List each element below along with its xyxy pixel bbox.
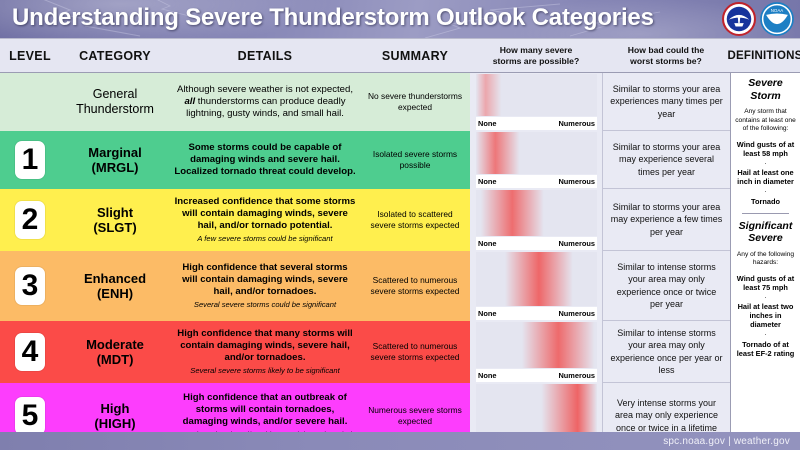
col-header-level: LEVEL bbox=[0, 39, 60, 72]
how-bad-cell: Similar to intense storms your area may … bbox=[602, 321, 730, 383]
agency-logos: NOAA bbox=[722, 2, 794, 36]
level-cell: 2 bbox=[0, 189, 60, 251]
category-line2: (MRGL) bbox=[88, 160, 141, 175]
definitions-panel: SevereStormAny storm that contains at le… bbox=[730, 73, 800, 432]
category-line1: Moderate bbox=[86, 337, 144, 352]
nws-logo-icon bbox=[722, 2, 756, 36]
col-header-how-many-line2: storms are possible? bbox=[493, 56, 579, 66]
scale-label-high: Numerous bbox=[558, 309, 595, 318]
footer-bar: spc.noaa.gov | weather.gov bbox=[0, 432, 800, 450]
definition-title: SevereStorm bbox=[734, 77, 797, 102]
level-cell: 1 bbox=[0, 131, 60, 189]
how-bad-cell: Similar to storms your area may experien… bbox=[602, 189, 730, 251]
definition-lead: Any storm that contains at least one of … bbox=[734, 108, 797, 134]
definition-separator-dot: . bbox=[734, 188, 797, 194]
how-many-gradient-cell: NoneNumerous bbox=[470, 321, 602, 383]
table-body: GeneralThunderstormAlthough severe weath… bbox=[0, 73, 800, 449]
definition-item: Hail at least two inches in diameter bbox=[734, 302, 797, 329]
details-text: Increased confidence that some storms wi… bbox=[174, 196, 356, 231]
table-row: 1Marginal(MRGL)Some storms could be capa… bbox=[0, 131, 800, 189]
col-header-category: CATEGORY bbox=[60, 39, 170, 72]
details-cell: High confidence that many storms will co… bbox=[170, 321, 360, 383]
outlook-table: LEVEL CATEGORY DETAILS SUMMARY How many … bbox=[0, 38, 800, 432]
summary-cell: Isolated severe storms possible bbox=[360, 131, 470, 189]
definition-item: Tornado bbox=[734, 197, 797, 206]
category-line1: High bbox=[94, 401, 135, 416]
col-header-how-many: How many severe storms are possible? bbox=[470, 39, 602, 72]
table-row: 2Slight(SLGT)Increased confidence that s… bbox=[0, 189, 800, 251]
category-line1: Marginal bbox=[88, 145, 141, 160]
category-cell: Slight(SLGT) bbox=[60, 189, 170, 251]
gradient-scale-labels: NoneNumerous bbox=[476, 307, 597, 320]
definition-title: SignificantSevere bbox=[734, 220, 797, 245]
definition-title-line1: Severe bbox=[734, 77, 797, 90]
definition-separator-dot: . bbox=[734, 331, 797, 337]
level-badge: 4 bbox=[15, 333, 45, 371]
summary-cell: Scattered to numerous severe storms expe… bbox=[360, 321, 470, 383]
severe-storm-likelihood-gradient bbox=[476, 384, 597, 434]
details-emphasis: all bbox=[184, 96, 195, 107]
definition-separator-dot: . bbox=[734, 294, 797, 300]
definition-item: Tornado of at least EF-2 rating bbox=[734, 340, 797, 358]
col-header-how-bad: How bad could the worst storms be? bbox=[602, 39, 730, 72]
definition-item: Wind gusts of at least 75 mph bbox=[734, 274, 797, 292]
details-text: High confidence that an outbreak of stor… bbox=[174, 392, 356, 427]
scale-label-high: Numerous bbox=[558, 239, 595, 248]
details-note: Several severe storms likely to be signi… bbox=[190, 367, 339, 375]
col-header-summary: SUMMARY bbox=[360, 39, 470, 72]
scale-label-high: Numerous bbox=[558, 119, 595, 128]
category-line2: (MDT) bbox=[86, 352, 144, 367]
how-many-gradient-cell: NoneNumerous bbox=[470, 251, 602, 321]
summary-cell: No severe thunderstorms expected bbox=[360, 73, 470, 131]
definition-item: Wind gusts of at least 58 mph bbox=[734, 140, 797, 158]
definition-separator-dot: . bbox=[734, 160, 797, 166]
table-row: 4Moderate(MDT)High confidence that many … bbox=[0, 321, 800, 383]
category-cell: Marginal(MRGL) bbox=[60, 131, 170, 189]
level-badge: 5 bbox=[15, 397, 45, 435]
details-text: High confidence that many storms will co… bbox=[174, 328, 356, 363]
noaa-logo-icon: NOAA bbox=[760, 2, 794, 36]
summary-cell: Scattered to numerous severe storms expe… bbox=[360, 251, 470, 321]
scale-label-low: None bbox=[478, 119, 496, 128]
col-header-definitions: DEFINITIONS bbox=[730, 39, 800, 72]
table-header-row: LEVEL CATEGORY DETAILS SUMMARY How many … bbox=[0, 39, 800, 73]
scale-label-high: Numerous bbox=[558, 177, 595, 186]
details-cell: Increased confidence that some storms wi… bbox=[170, 189, 360, 251]
page-title: Understanding Severe Thunderstorm Outloo… bbox=[12, 4, 654, 32]
details-note: Several severe storms could be significa… bbox=[194, 301, 336, 309]
definition-block: SevereStormAny storm that contains at le… bbox=[734, 77, 797, 206]
summary-cell: Isolated to scattered severe storms expe… bbox=[360, 189, 470, 251]
level-cell: 4 bbox=[0, 321, 60, 383]
details-note: A few severe storms could be significant bbox=[197, 235, 332, 243]
gradient-scale-labels: NoneNumerous bbox=[476, 117, 597, 130]
level-cell bbox=[0, 73, 60, 131]
definitions-divider bbox=[742, 213, 789, 214]
how-many-gradient-cell: NoneNumerous bbox=[470, 73, 602, 131]
col-header-details: DETAILS bbox=[170, 39, 360, 72]
definition-lead: Any of the following hazards: bbox=[734, 251, 797, 268]
severe-storm-likelihood-gradient bbox=[476, 190, 597, 236]
col-header-how-bad-line2: worst storms be? bbox=[628, 56, 704, 66]
details-text: Some storms could be capable of damaging… bbox=[174, 142, 356, 177]
gradient-scale-labels: NoneNumerous bbox=[476, 369, 597, 382]
category-line2: Thunderstorm bbox=[76, 102, 154, 117]
definition-title-line2: Storm bbox=[734, 90, 797, 103]
category-line2: (HIGH) bbox=[94, 416, 135, 431]
severe-storm-likelihood-gradient bbox=[476, 252, 597, 306]
gradient-scale-labels: NoneNumerous bbox=[476, 175, 597, 188]
details-cell: Although severe weather is not expected,… bbox=[170, 73, 360, 131]
how-many-gradient-cell: NoneNumerous bbox=[470, 131, 602, 189]
how-bad-cell: Similar to storms your area may experien… bbox=[602, 131, 730, 189]
category-line2: (SLGT) bbox=[93, 220, 136, 235]
details-cell: Some storms could be capable of damaging… bbox=[170, 131, 360, 189]
category-line1: General bbox=[76, 87, 154, 102]
category-cell: GeneralThunderstorm bbox=[60, 73, 170, 131]
scale-label-low: None bbox=[478, 371, 496, 380]
col-header-how-many-line1: How many severe bbox=[493, 45, 579, 55]
how-bad-cell: Similar to intense storms your area may … bbox=[602, 251, 730, 321]
scale-label-low: None bbox=[478, 177, 496, 186]
definition-title-line2: Severe bbox=[734, 232, 797, 245]
severe-storm-likelihood-gradient bbox=[476, 74, 597, 116]
severe-storm-likelihood-gradient bbox=[476, 322, 597, 368]
how-bad-cell: Similar to storms your area experiences … bbox=[602, 73, 730, 131]
footer-links: spc.noaa.gov | weather.gov bbox=[663, 436, 790, 447]
category-line1: Slight bbox=[93, 205, 136, 220]
table-row: 3Enhanced(ENH)High confidence that sever… bbox=[0, 251, 800, 321]
category-cell: Moderate(MDT) bbox=[60, 321, 170, 383]
scale-label-low: None bbox=[478, 239, 496, 248]
details-text: High confidence that several storms will… bbox=[174, 262, 356, 297]
app-header-banner: Understanding Severe Thunderstorm Outloo… bbox=[0, 0, 800, 38]
definition-block: SignificantSevereAny of the following ha… bbox=[734, 220, 797, 358]
svg-text:NOAA: NOAA bbox=[771, 8, 784, 13]
level-badge: 2 bbox=[15, 201, 45, 239]
table-row: GeneralThunderstormAlthough severe weath… bbox=[0, 73, 800, 131]
definition-title-line1: Significant bbox=[734, 220, 797, 233]
details-cell: High confidence that several storms will… bbox=[170, 251, 360, 321]
level-cell: 3 bbox=[0, 251, 60, 321]
scale-label-high: Numerous bbox=[558, 371, 595, 380]
how-many-gradient-cell: NoneNumerous bbox=[470, 189, 602, 251]
gradient-scale-labels: NoneNumerous bbox=[476, 237, 597, 250]
scale-label-low: None bbox=[478, 309, 496, 318]
details-text: Although severe weather is not expected,… bbox=[174, 84, 356, 119]
severe-storm-likelihood-gradient bbox=[476, 132, 597, 174]
col-header-how-bad-line1: How bad could the bbox=[628, 45, 704, 55]
category-line2: (ENH) bbox=[84, 286, 146, 301]
definition-item: Hail at least one inch in diameter bbox=[734, 168, 797, 186]
category-cell: Enhanced(ENH) bbox=[60, 251, 170, 321]
category-line1: Enhanced bbox=[84, 271, 146, 286]
level-badge: 3 bbox=[15, 267, 45, 305]
level-badge: 1 bbox=[15, 141, 45, 179]
